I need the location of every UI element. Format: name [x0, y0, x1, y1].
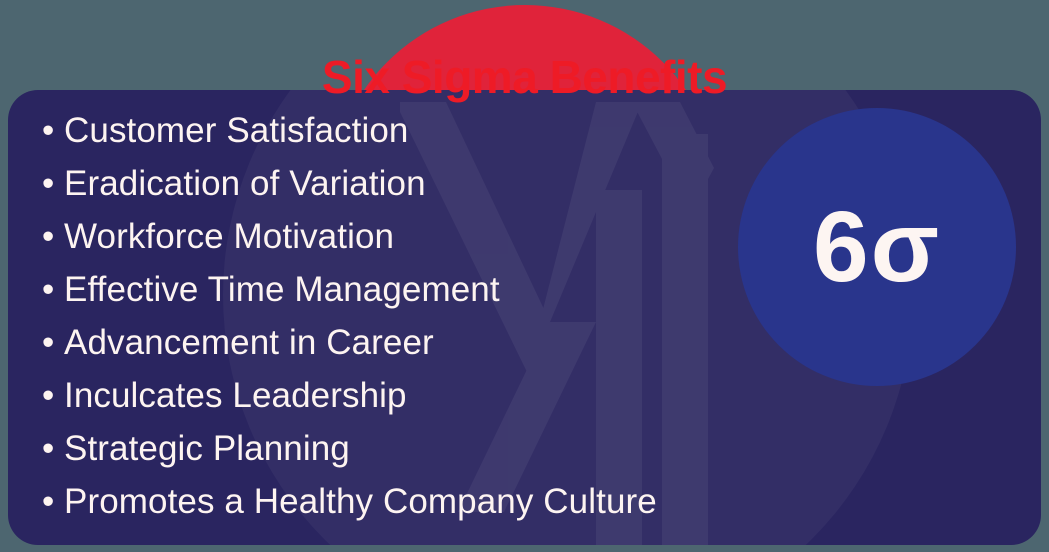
benefits-list: • Customer Satisfaction • Eradication of… [42, 104, 657, 528]
bullet-icon: • [42, 210, 64, 263]
bullet-icon: • [42, 475, 64, 528]
infographic-canvas: Six Sigma Benefits 6σ • Cus [0, 0, 1049, 552]
list-item-label: Advancement in Career [64, 316, 434, 369]
list-item-label: Eradication of Variation [64, 157, 426, 210]
bullet-icon: • [42, 369, 64, 422]
bullet-icon: • [42, 263, 64, 316]
bullet-icon: • [42, 104, 64, 157]
list-item-label: Inculcates Leadership [64, 369, 407, 422]
list-item-label: Effective Time Management [64, 263, 500, 316]
list-item: • Eradication of Variation [42, 157, 657, 210]
list-item: • Strategic Planning [42, 422, 657, 475]
list-item-label: Customer Satisfaction [64, 104, 408, 157]
bullet-icon: • [42, 316, 64, 369]
list-item: • Workforce Motivation [42, 210, 657, 263]
list-item: • Customer Satisfaction [42, 104, 657, 157]
list-item-label: Promotes a Healthy Company Culture [64, 475, 657, 528]
page-title: Six Sigma Benefits [0, 52, 1049, 103]
list-item-label: Workforce Motivation [64, 210, 394, 263]
benefits-card: 6σ • Customer Satisfaction • Eradication… [8, 90, 1041, 545]
list-item: • Promotes a Healthy Company Culture [42, 475, 657, 528]
list-item-label: Strategic Planning [64, 422, 350, 475]
list-item: • Advancement in Career [42, 316, 657, 369]
bullet-icon: • [42, 157, 64, 210]
list-item: • Effective Time Management [42, 263, 657, 316]
six-sigma-badge-label: 6σ [738, 108, 1016, 386]
list-item: • Inculcates Leadership [42, 369, 657, 422]
bullet-icon: • [42, 422, 64, 475]
